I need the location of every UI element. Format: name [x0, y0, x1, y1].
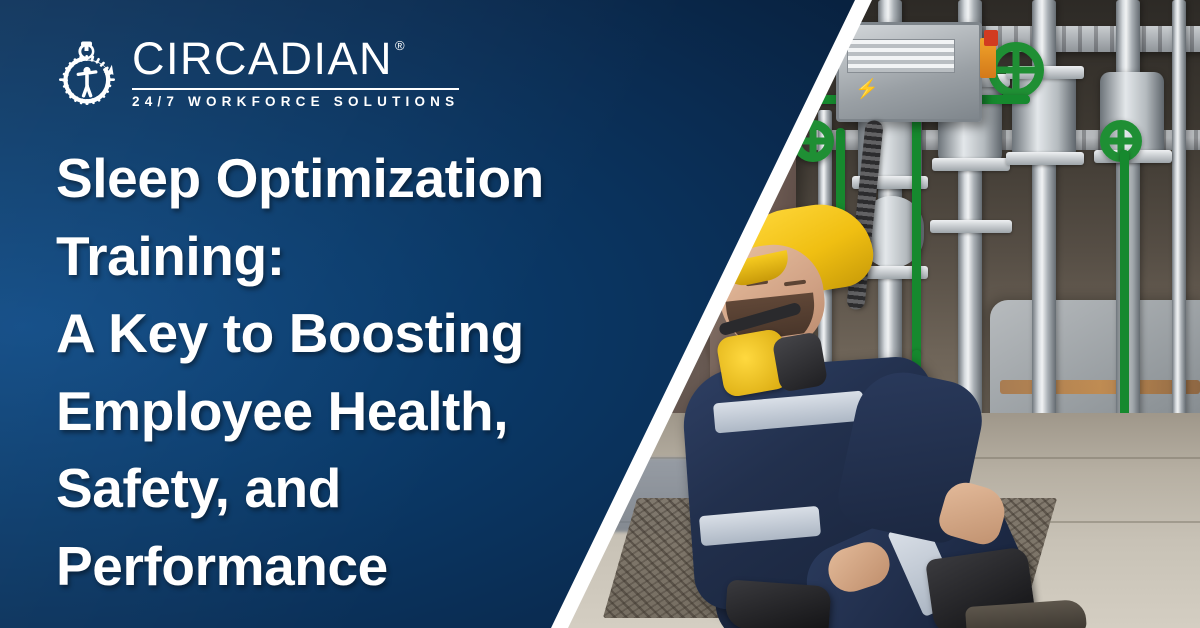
logo-name-row: CIRCADIAN ® [132, 36, 459, 81]
headline-line-1: Sleep Optimization [56, 140, 656, 218]
promo-banner: ⚡ [0, 0, 1200, 628]
headline-line-4: Employee Health, [56, 373, 656, 451]
headline-line-2: Training: [56, 218, 656, 296]
headline-line-5: Safety, and [56, 450, 656, 528]
cabinet-terminal-strip [847, 39, 955, 73]
lightning-bolt-icon: ⚡ [855, 80, 879, 99]
logo-wordmark: CIRCADIAN ® 24/7 WORKFORCE SOLUTIONS [132, 36, 459, 109]
emergency-stop-button [984, 30, 998, 46]
headline-line-3: A Key to Boosting [56, 295, 656, 373]
registered-trademark-icon: ® [395, 39, 406, 52]
ear-defender-cushion [772, 331, 829, 393]
safety-boot-left [724, 579, 831, 628]
valve-handwheel-2 [988, 42, 1044, 98]
valve-flange-3b [1006, 152, 1084, 165]
circadian-logo[interactable]: CIRCADIAN ® 24/7 WORKFORCE SOLUTIONS [56, 36, 459, 109]
logo-name: CIRCADIAN [132, 36, 393, 81]
banner-content: CIRCADIAN ® 24/7 WORKFORCE SOLUTIONS Sle… [0, 0, 700, 628]
logo-divider-rule [132, 88, 459, 90]
headline-line-6: Performance [56, 528, 656, 606]
electrical-cabinet [836, 22, 982, 122]
valve-flange-2b [932, 158, 1010, 171]
stopwatch-person-icon [56, 40, 118, 106]
logo-tagline: 24/7 WORKFORCE SOLUTIONS [132, 94, 459, 109]
page-title: Sleep Optimization Training: A Key to Bo… [56, 140, 656, 605]
